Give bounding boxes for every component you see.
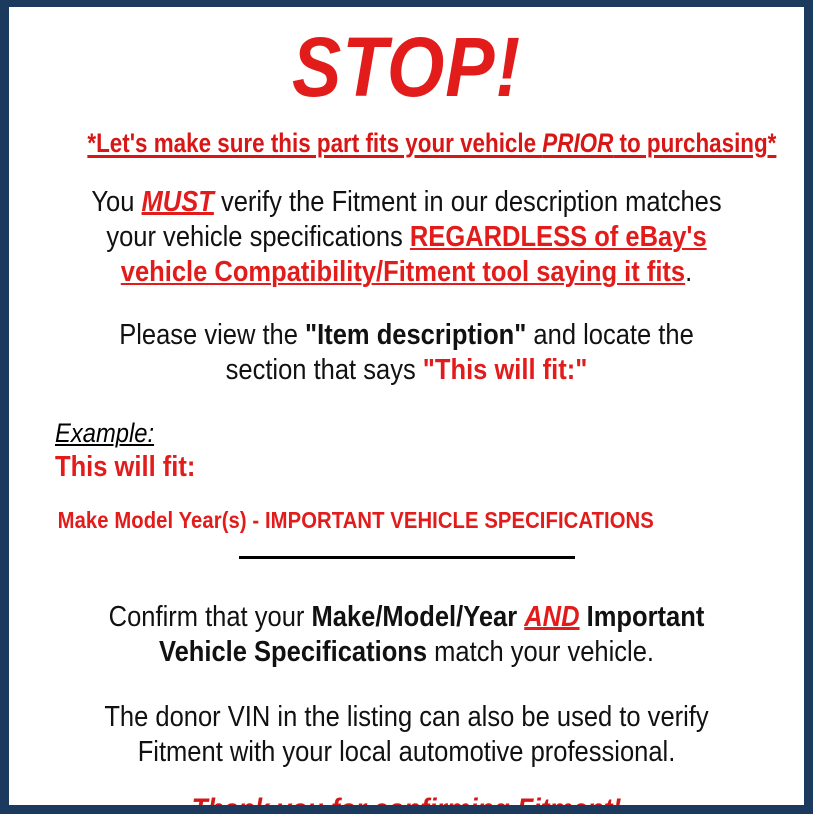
paragraph-confirm: Confirm that your Make/Model/Year AND Im…: [22, 600, 791, 670]
desc-part1-text: Please view the: [119, 319, 305, 351]
confirm-part2-text: match your vehicle.: [427, 636, 654, 668]
example-fit-heading-row: This will fit:: [55, 451, 791, 484]
example-spec-line: Make Model Year(s) - IMPORTANT VEHICLE S…: [55, 506, 703, 534]
thank-you-message: Thank you for confirming Fitment!: [68, 792, 745, 814]
example-fit-heading: This will fit:: [55, 451, 703, 484]
paragraph-item-description-inner: Please view the "Item description" and l…: [77, 318, 736, 388]
item-description-label: "Item description": [305, 319, 526, 351]
must-period-text: .: [685, 256, 692, 288]
paragraph-confirm-inner: Confirm that your Make/Model/Year AND Im…: [88, 600, 726, 670]
subtitle-banner: *Let's make sure this part fits your veh…: [87, 127, 725, 159]
example-label: Example:: [55, 418, 703, 449]
paragraph-donor-vin-text: The donor VIN in the listing can also be…: [73, 700, 739, 770]
notice-content: STOP! *Let's make sure this part fits yo…: [9, 7, 804, 805]
must-part1-text: You: [91, 186, 141, 218]
paragraph-item-description: Please view the "Item description" and l…: [22, 318, 791, 388]
make-model-year-label: Make/Model/Year: [311, 601, 517, 633]
thanks-row: Thank you for confirming Fitment!: [22, 792, 791, 814]
example-label-row: Example:: [55, 418, 791, 449]
and-keyword: AND: [524, 601, 579, 633]
this-will-fit-quote: "This will fit:": [423, 354, 588, 386]
subtitle-emphasis-text: PRIOR: [542, 128, 613, 158]
example-block: Example: This will fit: Make Model Year(…: [22, 418, 791, 534]
paragraph-donor-vin: The donor VIN in the listing can also be…: [22, 700, 791, 770]
page-title: STOP!: [68, 19, 745, 115]
paragraph-must-verify: You MUST verify the Fitment in our descr…: [22, 185, 791, 290]
subtitle-tail-text: to purchasing*: [613, 128, 776, 158]
confirm-part1-text: Confirm that your: [109, 601, 312, 633]
subtitle-lead-text: *Let's make sure this part fits your veh…: [87, 128, 542, 158]
subtitle-row: *Let's make sure this part fits your veh…: [22, 127, 791, 161]
fitment-notice-card: STOP! *Let's make sure this part fits yo…: [0, 0, 813, 814]
example-spec-row: Make Model Year(s) - IMPORTANT VEHICLE S…: [55, 506, 791, 534]
horizontal-rule: [239, 556, 575, 559]
headline-row: STOP!: [22, 7, 791, 115]
divider-row: [22, 556, 791, 570]
must-keyword: MUST: [142, 186, 214, 218]
paragraph-must-verify-inner: You MUST verify the Fitment in our descr…: [80, 185, 732, 290]
